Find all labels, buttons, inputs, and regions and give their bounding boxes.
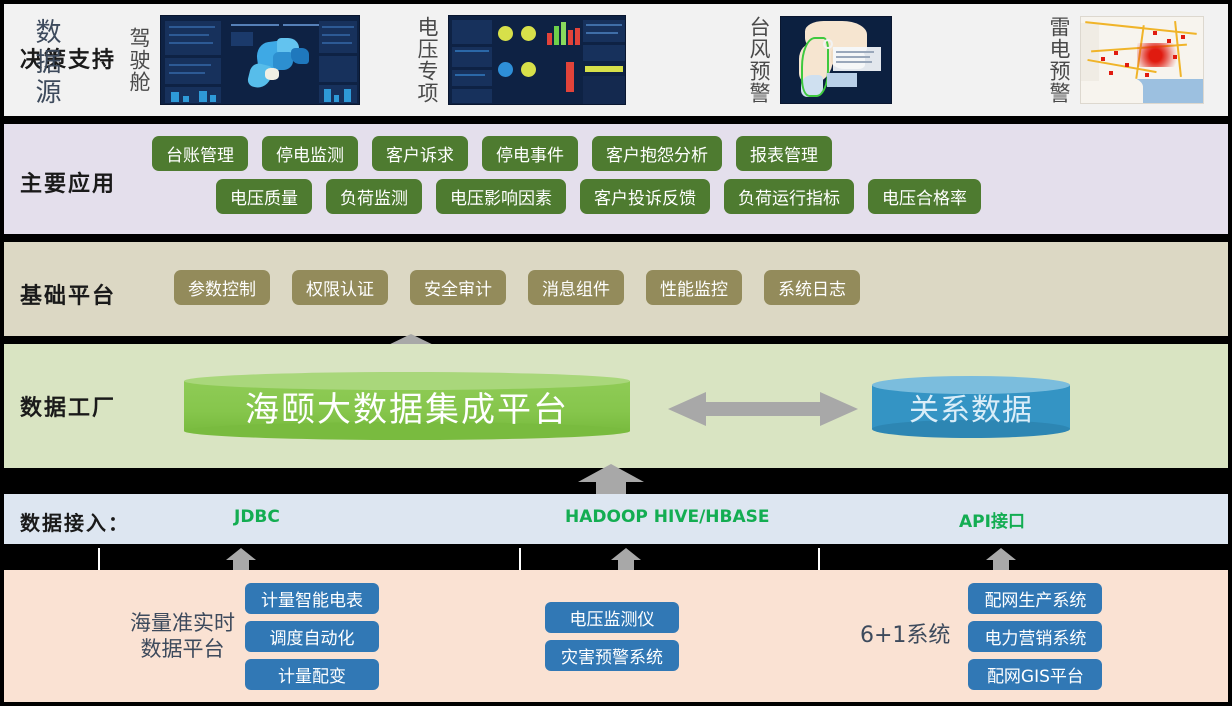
platform-pill[interactable]: 安全审计	[410, 270, 506, 305]
relational-database-label: 关系数据	[909, 385, 1033, 429]
source-chip[interactable]: 调度自动化	[245, 621, 379, 652]
decision-item-typhoon-label: 台风预警	[748, 16, 770, 104]
up-arrow-access-to-factory	[578, 464, 644, 496]
decision-item-cockpit-label: 驾驶舱	[128, 27, 150, 93]
app-pill[interactable]: 电压合格率	[868, 179, 981, 214]
main-applications-row-1: 台账管理 停电监测 客户诉求 停电事件 客户抱怨分析 报表管理	[152, 136, 1220, 171]
source-group-title-line: 海量准实时	[130, 610, 235, 636]
platform-pill[interactable]: 系统日志	[764, 270, 860, 305]
app-pill[interactable]: 停电监测	[262, 136, 358, 171]
row-label-data-factory: 数据工厂	[20, 390, 116, 422]
row-label-base-platform: 基础平台	[20, 278, 116, 310]
platform-pill[interactable]: 消息组件	[528, 270, 624, 305]
source-group-monitoring: 电压监测仪 灾害预警系统	[545, 570, 679, 702]
access-item-hadoop[interactable]: HADOOP HIVE/HBASE	[565, 507, 770, 527]
decision-item-lightning[interactable]: 雷电预警	[1048, 4, 1204, 116]
row-label-main-applications: 主要应用	[20, 166, 116, 198]
app-pill[interactable]: 客户投诉反馈	[580, 179, 710, 214]
source-group-title-line: 6+1系统	[860, 622, 950, 650]
source-chip-list-six-plus-one: 配网生产系统 电力营销系统 配网GIS平台	[968, 583, 1102, 690]
source-chip[interactable]: 电力营销系统	[968, 621, 1102, 652]
lightning-strike-map-thumbnail[interactable]	[1080, 16, 1204, 104]
platform-pill[interactable]: 参数控制	[174, 270, 270, 305]
row-label-data-source: 数据源	[28, 18, 65, 108]
access-item-api[interactable]: API接口	[959, 507, 1025, 532]
relational-database-cylinder[interactable]: 关系数据	[872, 376, 1070, 438]
typhoon-track-map-thumbnail[interactable]	[780, 16, 892, 104]
platform-pill[interactable]: 权限认证	[292, 270, 388, 305]
decision-item-typhoon[interactable]: 台风预警	[748, 4, 892, 116]
source-chip[interactable]: 电压监测仪	[545, 602, 679, 633]
main-applications-pill-container: 台账管理 停电监测 客户诉求 停电事件 客户抱怨分析 报表管理 电压质量 负荷监…	[152, 136, 1220, 222]
app-pill[interactable]: 负荷监测	[326, 179, 422, 214]
decision-item-cockpit[interactable]: 驾驶舱	[128, 4, 360, 116]
data-access-band: 数据接入： JDBC HADOOP HIVE/HBASE API接口	[4, 494, 1228, 544]
decision-item-voltage-label: 电压专项	[416, 16, 438, 104]
up-arrow-source-to-access-2	[611, 548, 641, 570]
bidirectional-arrow-icon	[668, 392, 858, 426]
source-chip[interactable]: 配网生产系统	[968, 583, 1102, 614]
main-applications-band: 主要应用 台账管理 停电监测 客户诉求 停电事件 客户抱怨分析 报表管理 电压质…	[4, 124, 1228, 234]
main-applications-row-2: 电压质量 负荷监测 电压影响因素 客户投诉反馈 负荷运行指标 电压合格率	[152, 179, 1220, 214]
big-data-integration-platform-cylinder[interactable]: 海颐大数据集成平台	[184, 372, 630, 440]
cockpit-dashboard-thumbnail[interactable]	[160, 15, 360, 105]
app-pill[interactable]: 电压影响因素	[436, 179, 566, 214]
source-chip-list-monitoring: 电压监测仪 灾害预警系统	[545, 602, 679, 671]
source-group-title-line: 数据平台	[130, 636, 235, 662]
base-platform-band: 基础平台 参数控制 权限认证 安全审计 消息组件 性能监控 系统日志	[4, 242, 1228, 336]
voltage-dashboard-thumbnail[interactable]	[448, 15, 626, 105]
up-arrow-source-to-access-3	[986, 548, 1016, 570]
app-pill[interactable]: 停电事件	[482, 136, 578, 171]
app-pill[interactable]: 负荷运行指标	[724, 179, 854, 214]
architecture-diagram: 决策支持 驾驶舱	[0, 0, 1232, 706]
source-chip[interactable]: 配网GIS平台	[968, 659, 1102, 690]
app-pill[interactable]: 电压质量	[216, 179, 312, 214]
decision-item-voltage[interactable]: 电压专项	[416, 4, 626, 116]
decision-item-lightning-label: 雷电预警	[1048, 16, 1070, 104]
source-group-realtime-platform: 海量准实时 数据平台 计量智能电表 调度自动化 计量配变	[130, 570, 379, 702]
up-arrow-source-to-access-1	[226, 548, 256, 570]
source-chip[interactable]: 计量配变	[245, 659, 379, 690]
access-item-jdbc[interactable]: JDBC	[234, 507, 280, 527]
app-pill[interactable]: 客户诉求	[372, 136, 468, 171]
source-group-title-realtime: 海量准实时 数据平台	[130, 610, 235, 663]
source-chip[interactable]: 灾害预警系统	[545, 640, 679, 671]
decision-support-band: 决策支持 驾驶舱	[4, 4, 1228, 116]
source-group-title-six-plus-one: 6+1系统	[860, 622, 950, 650]
row-label-data-access: 数据接入：	[20, 507, 130, 536]
platform-pill[interactable]: 性能监控	[646, 270, 742, 305]
app-pill[interactable]: 台账管理	[152, 136, 248, 171]
app-pill[interactable]: 客户抱怨分析	[592, 136, 722, 171]
source-chip-list-realtime: 计量智能电表 调度自动化 计量配变	[245, 583, 379, 690]
big-data-integration-platform-label: 海颐大数据集成平台	[245, 382, 569, 431]
base-platform-row: 参数控制 权限认证 安全审计 消息组件 性能监控 系统日志	[174, 270, 1220, 305]
base-platform-pill-container: 参数控制 权限认证 安全审计 消息组件 性能监控 系统日志	[174, 270, 1220, 313]
source-chip[interactable]: 计量智能电表	[245, 583, 379, 614]
app-pill[interactable]: 报表管理	[736, 136, 832, 171]
source-group-six-plus-one: 6+1系统 配网生产系统 电力营销系统 配网GIS平台	[860, 570, 1102, 702]
